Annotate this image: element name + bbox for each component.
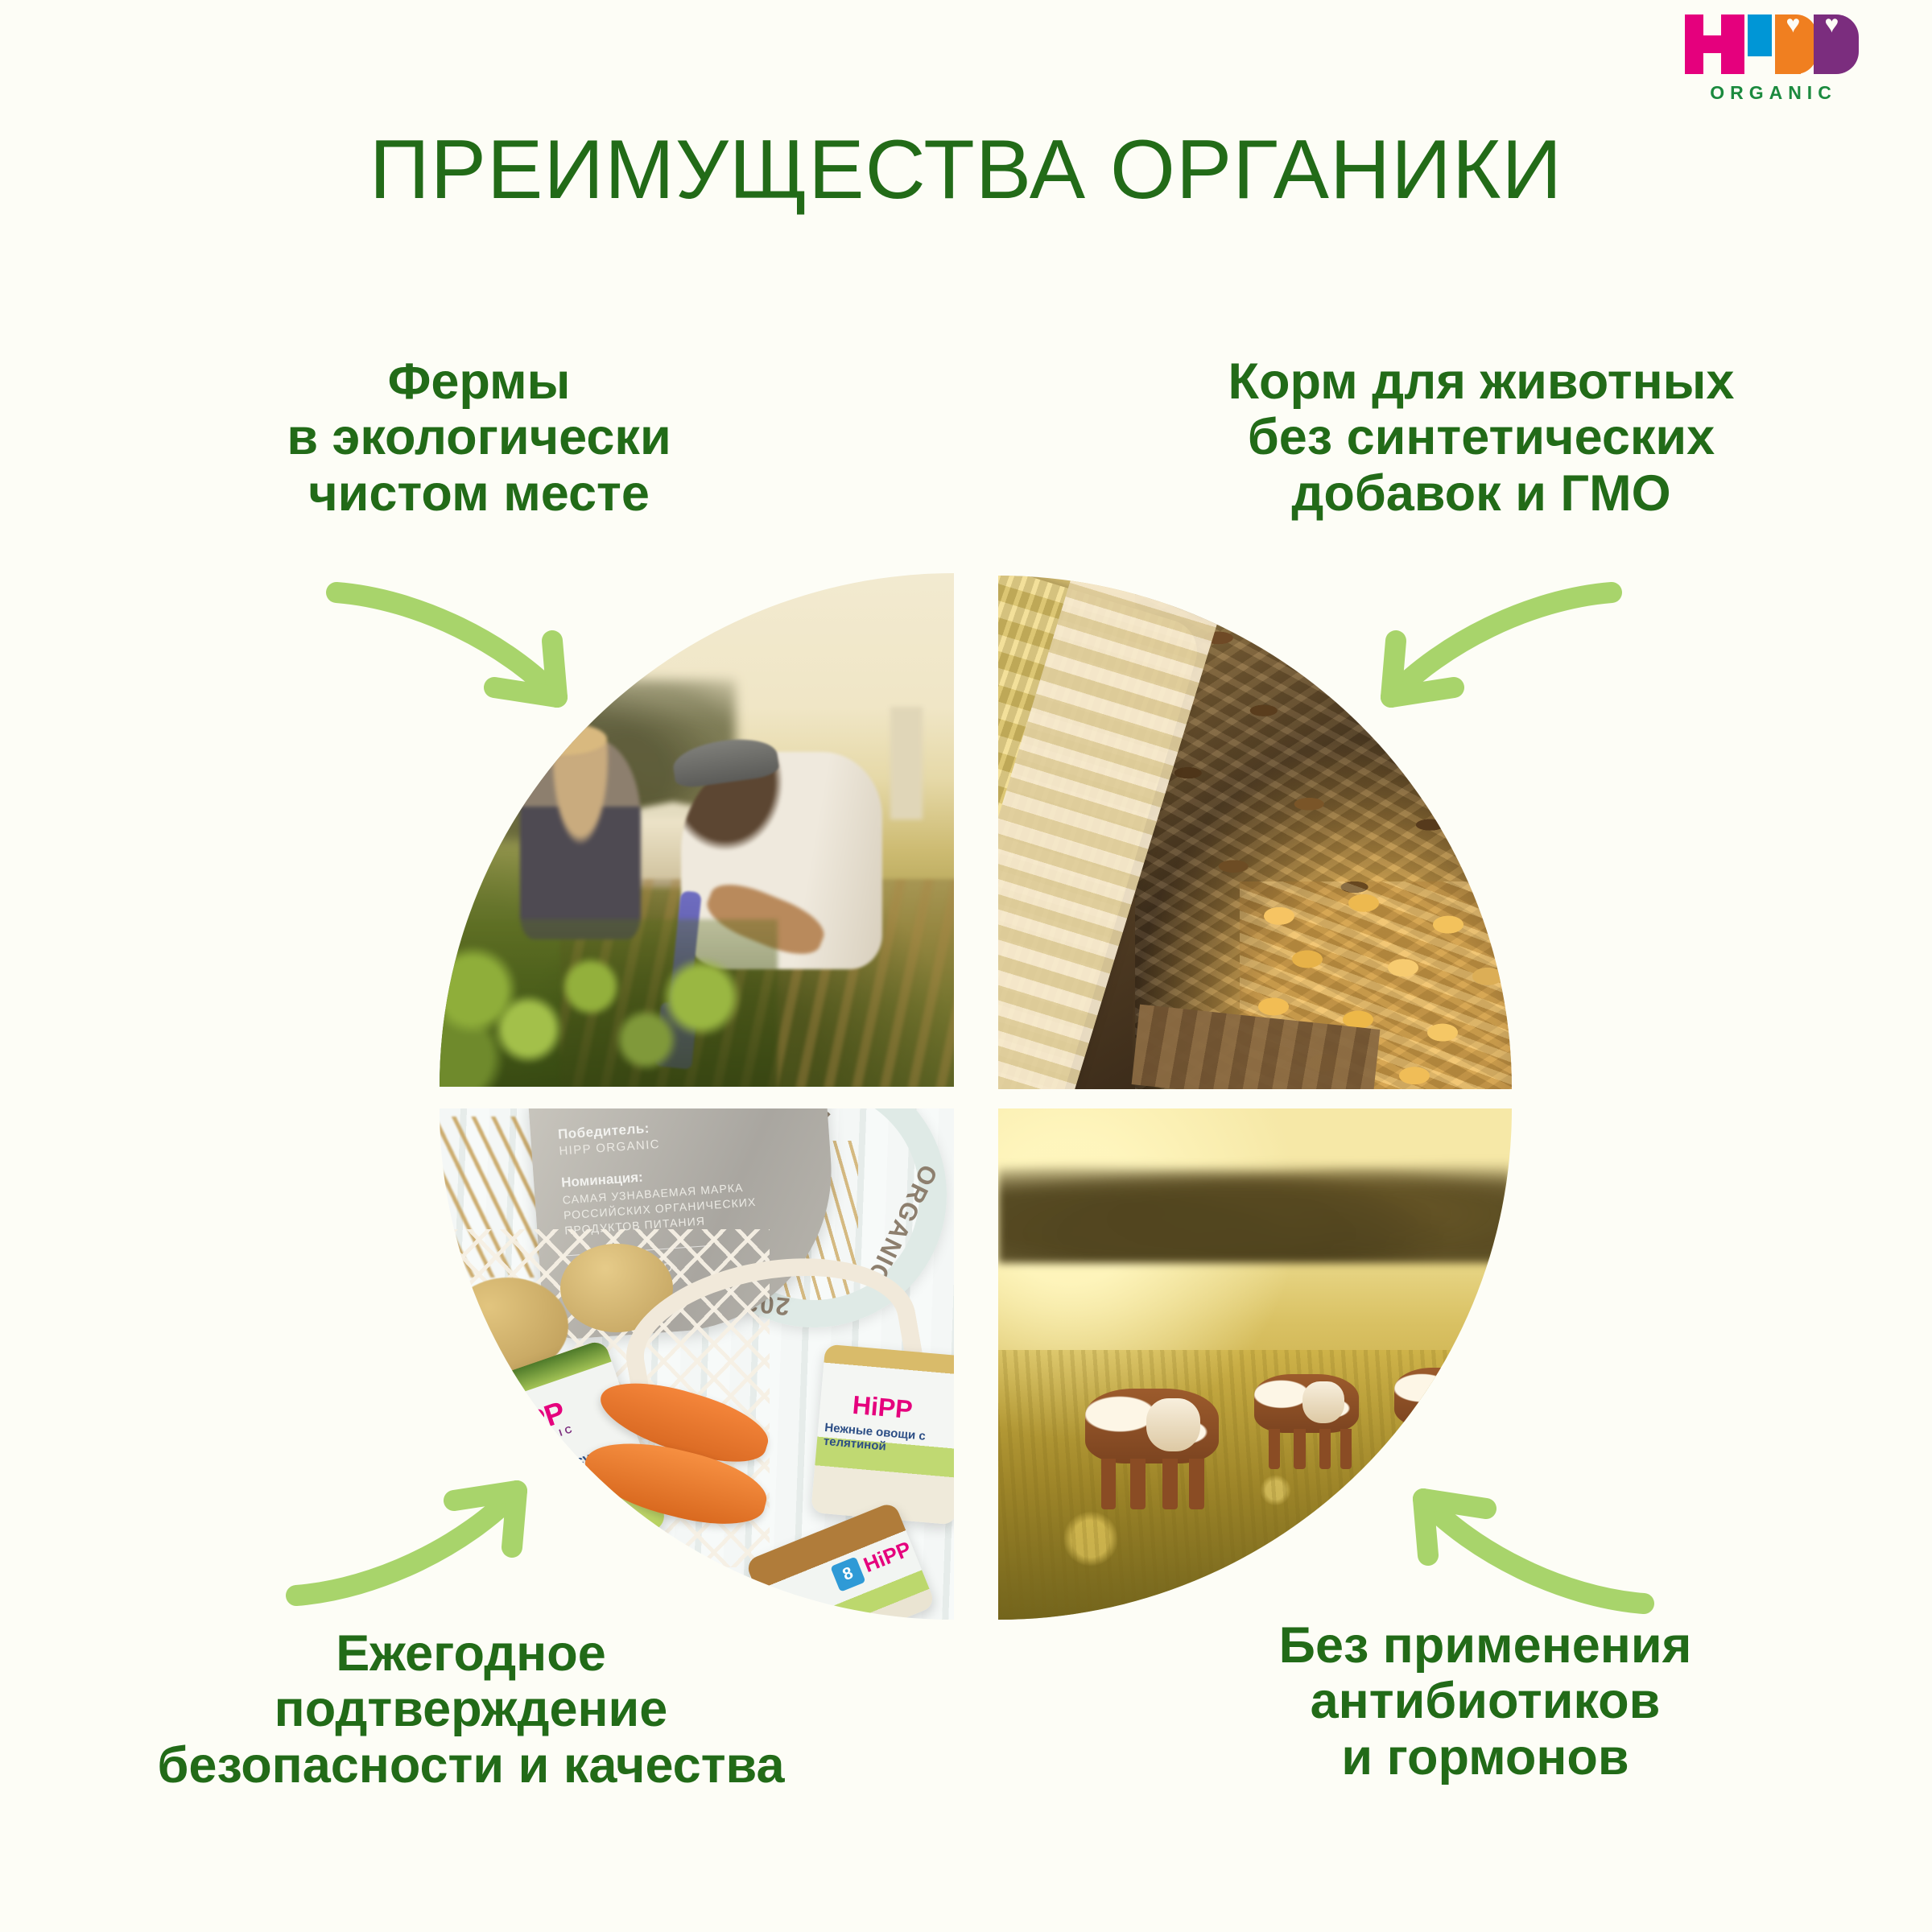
benefit-line: Фермы: [48, 354, 910, 410]
cow-head: [1443, 1376, 1486, 1418]
benefit-line: в экологически: [48, 410, 910, 465]
logo-letter-i: [1748, 14, 1772, 56]
hipp-organic-logo: ♥ ORGANIC: [1670, 14, 1872, 119]
cow-leg: [1294, 1429, 1305, 1469]
jar3-age-badge: 8: [830, 1557, 865, 1592]
benefit-label-top-right: Корм для животных без синтетических доба…: [1071, 354, 1892, 522]
farm-post: [890, 707, 923, 819]
logo-tagline: ORGANIC: [1670, 82, 1872, 104]
jar2-brand: HiPP: [851, 1390, 914, 1425]
cow-leg: [1101, 1459, 1116, 1509]
benefit-line: добавок и ГМО: [1071, 466, 1892, 522]
benefit-line: без синтетических: [1071, 410, 1892, 465]
jar2-product-name: Нежные овощи с телятиной: [823, 1422, 954, 1460]
cow-head: [1302, 1381, 1344, 1423]
cow-front: [1085, 1389, 1219, 1509]
cow-leg: [1130, 1459, 1145, 1509]
curved-arrow-down-left-icon: [1352, 563, 1626, 733]
farm-lettuce-crops: [440, 919, 778, 1087]
curved-arrow-up-right-icon: [282, 1457, 555, 1626]
jar3-brand: HiPP: [860, 1537, 914, 1578]
logo-letter-p-purple: [1814, 14, 1859, 74]
cow-leg: [1460, 1424, 1472, 1464]
page-title: ПРЕИМУЩЕСТВА ОРГАНИКИ: [0, 122, 1932, 218]
cow-middle: [1254, 1374, 1359, 1469]
cow-leg: [1319, 1429, 1331, 1469]
cow-leg: [1189, 1459, 1203, 1509]
logo-letter-h: [1685, 14, 1744, 74]
benefit-line: подтверждение: [24, 1682, 918, 1737]
cow-right: [1394, 1368, 1501, 1464]
benefit-line: антибиотиков: [1079, 1674, 1892, 1729]
benefit-line: Корм для животных: [1071, 354, 1892, 410]
meadow-treeline: [998, 1150, 1512, 1263]
cow-leg: [1409, 1424, 1421, 1464]
cow-leg: [1340, 1429, 1352, 1469]
benefit-label-bottom-right: Без применения антибиотиков и гормонов: [1079, 1618, 1892, 1785]
benefit-label-top-left: Фермы в экологически чистом месте: [48, 354, 910, 522]
logo-letter-p-orange: [1775, 14, 1817, 74]
cow-leg: [1435, 1424, 1447, 1464]
curved-arrow-up-left-icon: [1385, 1465, 1658, 1634]
cow-head: [1146, 1398, 1199, 1451]
benefit-label-bottom-left: Ежегодное подтверждение безопасности и к…: [24, 1626, 918, 1794]
cow-leg: [1481, 1424, 1493, 1464]
benefit-line: Ежегодное: [24, 1626, 918, 1682]
hipp-jar-veal: HiPP Нежные овощи с телятиной: [811, 1344, 954, 1525]
benefit-line: безопасности и качества: [24, 1738, 918, 1794]
benefit-line: и гормонов: [1079, 1730, 1892, 1785]
farm-worker-back: [520, 738, 641, 939]
cow-leg: [1162, 1459, 1177, 1509]
curved-arrow-down-right-icon: [322, 563, 596, 733]
hipp-wordmark: ♥: [1685, 14, 1858, 77]
benefits-photo-wheel: Food ORGANIC 2021 Победитель: HIPP ORGAN…: [440, 573, 1512, 1620]
benefit-line: чистом месте: [48, 466, 910, 522]
cow-leg: [1269, 1429, 1280, 1469]
